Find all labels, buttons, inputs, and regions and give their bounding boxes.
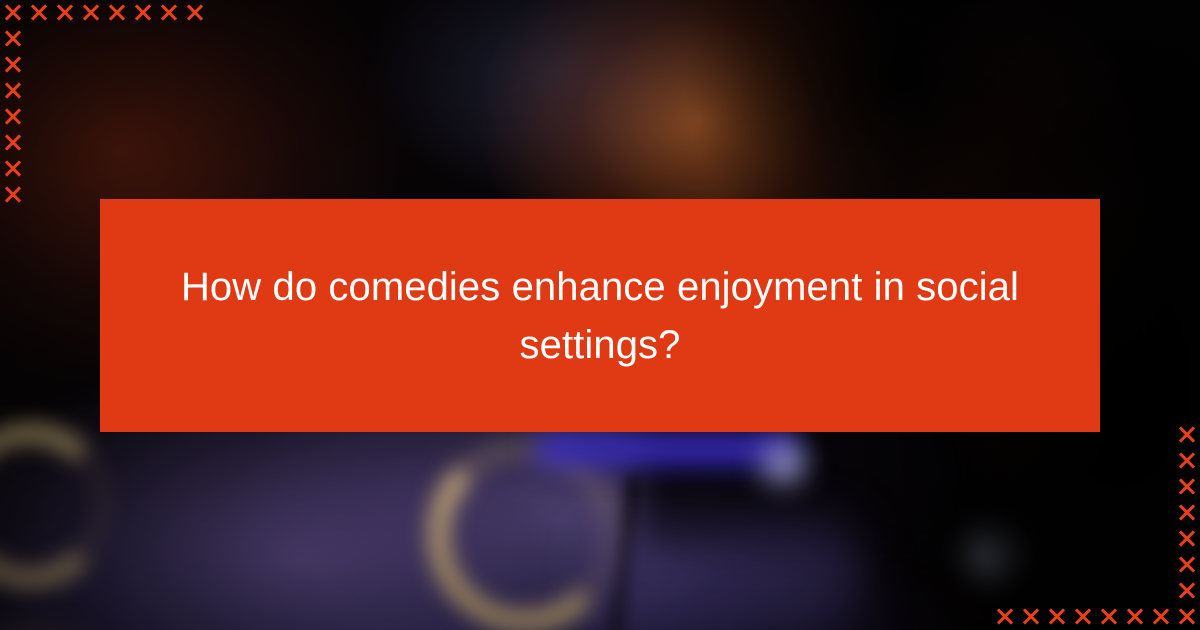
x-mark-icon xyxy=(1096,578,1122,604)
x-mark-icon xyxy=(26,130,52,156)
x-mark-icon xyxy=(182,156,208,182)
x-mark-icon xyxy=(1070,578,1096,604)
x-mark-icon xyxy=(26,104,52,130)
x-mark-icon xyxy=(104,26,130,52)
x-mark-icon xyxy=(1018,604,1044,630)
x-mark-icon xyxy=(1018,448,1044,474)
x-mark-icon xyxy=(1174,552,1200,578)
x-mark-icon xyxy=(1018,526,1044,552)
x-mark-icon xyxy=(156,78,182,104)
x-mark-icon xyxy=(26,0,52,26)
x-mark-icon xyxy=(1044,500,1070,526)
x-mark-icon xyxy=(1148,552,1174,578)
page-title: How do comedies enhance enjoyment in soc… xyxy=(156,258,1044,374)
x-mark-icon xyxy=(1122,578,1148,604)
x-mark-icon xyxy=(1096,474,1122,500)
x-mark-icon xyxy=(1070,604,1096,630)
x-mark-icon xyxy=(0,0,26,26)
bokeh-mid-arc-icon xyxy=(428,438,622,630)
x-mark-icon xyxy=(1044,604,1070,630)
x-mark-icon xyxy=(78,52,104,78)
x-mark-icon xyxy=(182,0,208,26)
x-mark-icon xyxy=(182,26,208,52)
x-mark-icon xyxy=(1148,500,1174,526)
x-mark-icon xyxy=(1018,474,1044,500)
x-mark-icon xyxy=(1018,552,1044,578)
bokeh-left-arc-icon xyxy=(0,424,112,588)
x-dot-grid-top-left xyxy=(0,0,208,208)
x-mark-icon xyxy=(130,156,156,182)
x-mark-icon xyxy=(992,604,1018,630)
x-mark-icon xyxy=(1122,422,1148,448)
x-mark-icon xyxy=(156,104,182,130)
x-mark-icon xyxy=(1070,526,1096,552)
x-mark-icon xyxy=(130,0,156,26)
x-mark-icon xyxy=(1122,604,1148,630)
x-mark-icon xyxy=(1044,526,1070,552)
x-mark-icon xyxy=(0,52,26,78)
x-mark-icon xyxy=(1148,474,1174,500)
x-mark-icon xyxy=(1122,448,1148,474)
x-mark-icon xyxy=(130,130,156,156)
x-mark-icon xyxy=(1122,526,1148,552)
x-mark-icon xyxy=(1044,578,1070,604)
x-mark-icon xyxy=(1070,552,1096,578)
x-mark-icon xyxy=(78,26,104,52)
x-mark-icon xyxy=(1096,500,1122,526)
x-mark-icon xyxy=(0,78,26,104)
x-mark-icon xyxy=(1018,500,1044,526)
x-mark-icon xyxy=(1070,500,1096,526)
x-mark-icon xyxy=(104,78,130,104)
social-share-card: How do comedies enhance enjoyment in soc… xyxy=(0,0,1200,630)
x-mark-icon xyxy=(1174,422,1200,448)
bokeh-purple-floor xyxy=(600,520,860,630)
x-mark-icon xyxy=(52,52,78,78)
x-mark-icon xyxy=(992,500,1018,526)
x-mark-icon xyxy=(1148,422,1174,448)
x-mark-icon xyxy=(104,104,130,130)
x-mark-icon xyxy=(78,78,104,104)
x-mark-icon xyxy=(130,26,156,52)
x-mark-icon xyxy=(0,104,26,130)
headline-banner: How do comedies enhance enjoyment in soc… xyxy=(100,199,1100,432)
x-mark-icon xyxy=(1096,604,1122,630)
x-mark-icon xyxy=(0,156,26,182)
x-mark-icon xyxy=(1148,526,1174,552)
x-mark-icon xyxy=(1122,474,1148,500)
x-mark-icon xyxy=(0,130,26,156)
x-mark-icon xyxy=(130,78,156,104)
x-mark-icon xyxy=(1122,500,1148,526)
x-mark-icon xyxy=(52,156,78,182)
x-mark-icon xyxy=(1096,552,1122,578)
x-mark-icon xyxy=(1174,500,1200,526)
x-mark-icon xyxy=(0,26,26,52)
x-mark-icon xyxy=(1096,526,1122,552)
x-mark-icon xyxy=(130,104,156,130)
x-mark-icon xyxy=(1018,578,1044,604)
x-mark-icon xyxy=(1096,448,1122,474)
x-mark-icon xyxy=(78,0,104,26)
x-mark-icon xyxy=(26,52,52,78)
x-dot-grid-bottom-right xyxy=(992,422,1200,630)
x-mark-icon xyxy=(78,156,104,182)
bokeh-white-dot xyxy=(968,530,1016,578)
x-mark-icon xyxy=(156,0,182,26)
x-mark-icon xyxy=(52,104,78,130)
x-mark-icon xyxy=(26,156,52,182)
x-mark-icon xyxy=(130,52,156,78)
x-mark-icon xyxy=(1174,604,1200,630)
x-mark-icon xyxy=(182,130,208,156)
x-mark-icon xyxy=(104,156,130,182)
x-mark-icon xyxy=(52,78,78,104)
x-mark-icon xyxy=(1044,448,1070,474)
x-mark-icon xyxy=(1148,448,1174,474)
x-mark-icon xyxy=(78,104,104,130)
x-mark-icon xyxy=(992,448,1018,474)
x-mark-icon xyxy=(104,130,130,156)
x-mark-icon xyxy=(1174,474,1200,500)
x-mark-icon xyxy=(78,130,104,156)
x-mark-icon xyxy=(1174,578,1200,604)
x-mark-icon xyxy=(156,130,182,156)
x-mark-icon xyxy=(156,156,182,182)
x-mark-icon xyxy=(26,182,52,208)
x-mark-icon xyxy=(156,52,182,78)
x-mark-icon xyxy=(992,578,1018,604)
bokeh-blue-bar xyxy=(536,432,796,466)
x-mark-icon xyxy=(156,26,182,52)
x-mark-icon xyxy=(26,26,52,52)
x-mark-icon xyxy=(1070,448,1096,474)
x-mark-icon xyxy=(1044,474,1070,500)
x-mark-icon xyxy=(52,182,78,208)
x-mark-icon xyxy=(1148,604,1174,630)
x-mark-icon xyxy=(1070,474,1096,500)
x-mark-icon xyxy=(52,130,78,156)
bokeh-blue-dot xyxy=(762,442,806,486)
x-mark-icon xyxy=(1174,526,1200,552)
x-mark-icon xyxy=(104,52,130,78)
x-mark-icon xyxy=(52,26,78,52)
x-mark-icon xyxy=(1122,552,1148,578)
x-mark-icon xyxy=(1044,552,1070,578)
x-mark-icon xyxy=(182,78,208,104)
x-mark-icon xyxy=(0,182,26,208)
x-mark-icon xyxy=(182,104,208,130)
x-mark-icon xyxy=(104,0,130,26)
x-mark-icon xyxy=(1148,578,1174,604)
x-mark-icon xyxy=(26,78,52,104)
x-mark-icon xyxy=(992,474,1018,500)
x-mark-icon xyxy=(1174,448,1200,474)
x-mark-icon xyxy=(52,0,78,26)
x-mark-icon xyxy=(182,52,208,78)
